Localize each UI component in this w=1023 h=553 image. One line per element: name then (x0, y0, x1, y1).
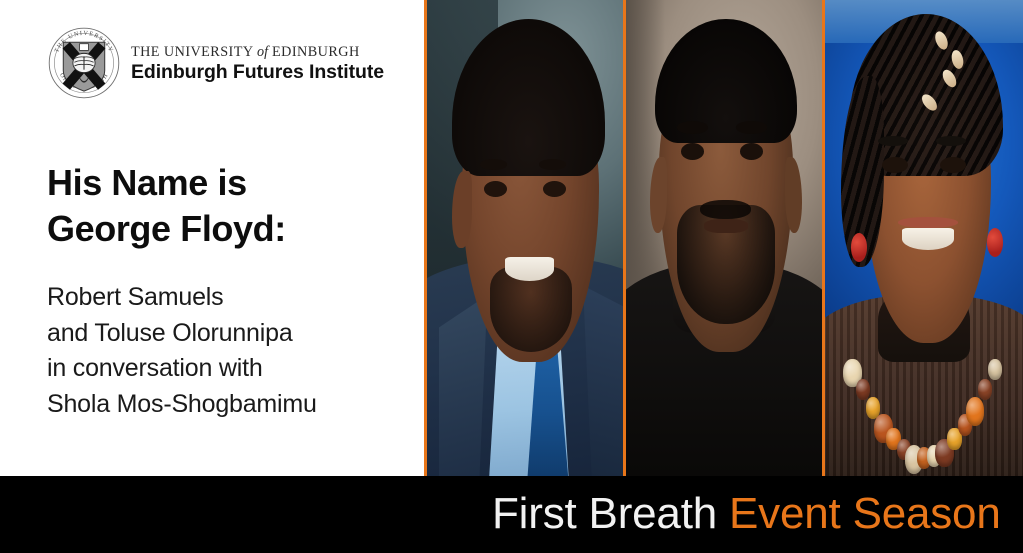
wordmark-institute: Edinburgh Futures Institute (131, 61, 384, 84)
wordmark-university-pre: THE UNIVERSITY (131, 44, 257, 60)
portrait-1-brow-left (480, 159, 507, 169)
portrait-2-moustache (700, 200, 751, 219)
subtitle-line-3: in conversation with (47, 351, 417, 387)
necklace-bead (978, 379, 992, 400)
portrait-1-ear (452, 171, 472, 247)
university-crest-icon: THE UNIVERSITY OF EDINBURGH (47, 26, 121, 100)
portrait-3-brow-left (878, 136, 908, 146)
portrait-1-smile (505, 257, 554, 281)
subtitle-line-2: and Toluse Olorunnipa (47, 316, 417, 352)
event-poster: THE UNIVERSITY OF EDINBURGH (0, 0, 1023, 553)
portrait-3-brow-right (936, 136, 966, 146)
headline-line-2: George Floyd: (47, 206, 407, 252)
season-banner-text: First Breath Event Season (492, 492, 1001, 536)
portrait-toluse-olorunnipa (626, 0, 822, 476)
wordmark-university-of: of (257, 44, 268, 60)
portrait-2-eye-left (681, 143, 705, 160)
event-subtitle: Robert Samuels and Toluse Olorunnipa in … (47, 280, 417, 422)
portrait-3-upper-lip (898, 217, 957, 227)
portrait-shola-mos-shogbamimu (825, 0, 1023, 476)
portrait-2-lips (704, 219, 747, 233)
info-panel: THE UNIVERSITY OF EDINBURGH (0, 0, 424, 476)
portrait-2-brow-right (736, 121, 767, 133)
necklace-bead (856, 379, 870, 400)
portrait-2-brow-left (677, 121, 708, 133)
portrait-1-brow-right (539, 159, 566, 169)
brand-lockup: THE UNIVERSITY OF EDINBURGH (47, 26, 384, 100)
portrait-3-earring-left (851, 233, 867, 262)
portrait-3-bead-necklace (853, 333, 996, 476)
season-banner-first-breath: First Breath (492, 489, 717, 538)
subtitle-line-4: Shola Mos-Shogbamimu (47, 387, 417, 423)
portrait-robert-samuels (427, 0, 623, 476)
wordmark-university-post: EDINBURGH (268, 44, 360, 60)
portrait-3-eye-right (940, 157, 966, 173)
season-banner: First Breath Event Season (0, 476, 1023, 553)
wordmark: THE UNIVERSITY of EDINBURGH Edinburgh Fu… (131, 42, 384, 85)
wordmark-university: THE UNIVERSITY of EDINBURGH (131, 44, 384, 60)
subtitle-line-1: Robert Samuels (47, 280, 417, 316)
page-title: His Name is George Floyd: (47, 160, 407, 252)
headline-line-1: His Name is (47, 160, 407, 206)
poster-top-area: THE UNIVERSITY OF EDINBURGH (0, 0, 1023, 476)
necklace-bead (966, 397, 985, 426)
portrait-strip (424, 0, 1023, 476)
portrait-1-eye-right (543, 181, 567, 197)
portrait-2-eye-right (740, 143, 764, 160)
season-banner-event-season: Event Season (717, 489, 1001, 538)
